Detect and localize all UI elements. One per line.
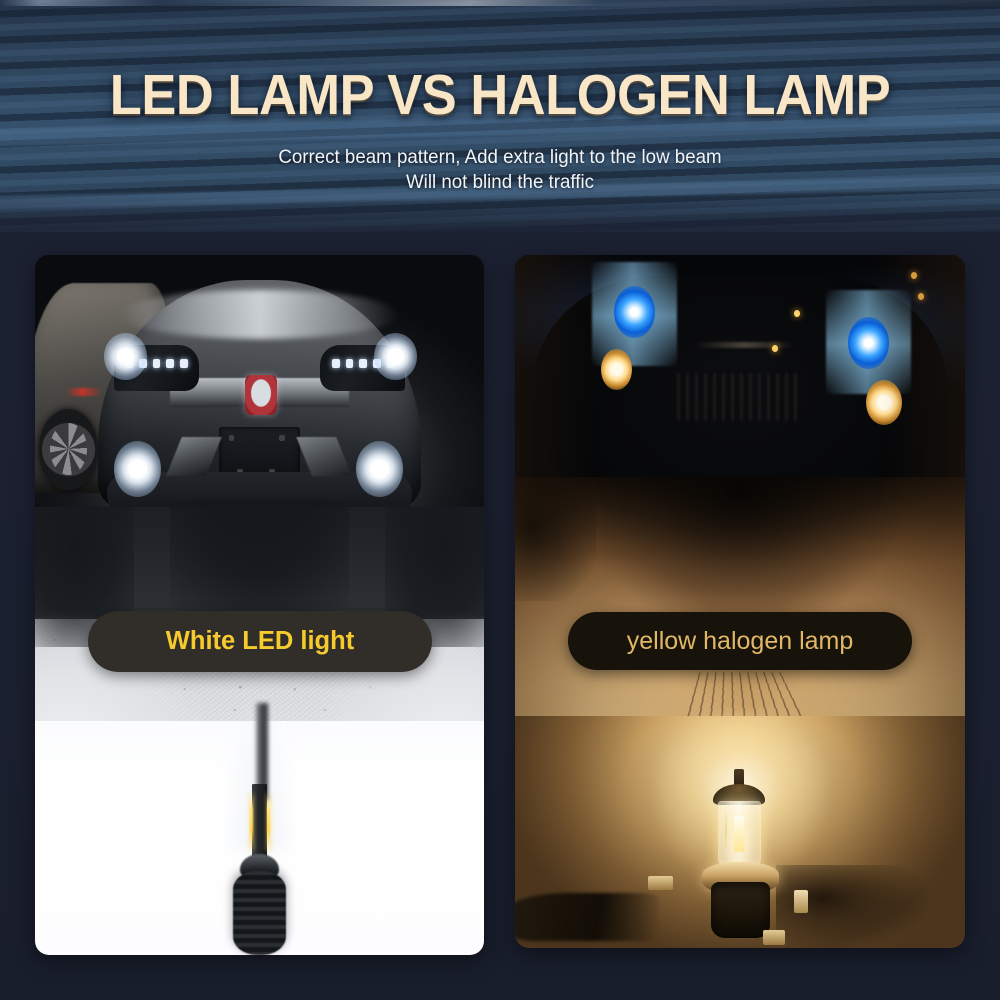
plate-bolt [229,435,235,441]
halogen-support-wire [725,809,727,855]
led-bulb-chip-body [252,784,267,861]
led-segment [153,359,161,367]
halogen-bulb-base [711,882,770,937]
led-segment [346,359,354,367]
halogen-base-tab [763,930,786,945]
led-chip-glow-right [267,794,269,851]
page-subtitle: Correct beam pattern, Add extra light to… [20,145,980,195]
led-segment [359,359,367,367]
honda-emblem-icon [245,375,276,414]
led-bulb-threaded-base [233,871,285,955]
left-fog-light-beam-source [114,441,161,497]
bulb-connector-wire [515,893,659,942]
left-headlight-beam-source [104,333,147,379]
led-photo [35,255,484,955]
led-comparison-panel[interactable] [35,255,484,955]
product-comparison-banner: LED LAMP VS HALOGEN LAMP Correct beam pa… [0,0,1000,1000]
halogen-comparison-panel[interactable] [515,255,965,948]
led-segment [166,359,174,367]
background-red-reflection [66,388,102,396]
white-led-light-label: White LED light [88,611,432,672]
halogen-base-tab [648,876,673,890]
yellow-halogen-lamp-label: yellow halogen lamp [568,612,912,670]
halogen-filament [734,816,744,852]
top-edge-highlight [0,0,1000,6]
halogen-photo [515,255,965,948]
right-headlight-beam-source [374,333,417,379]
led-segment [332,359,340,367]
background-car-wheel [39,409,97,490]
page-title: LED LAMP VS HALOGEN LAMP [40,62,960,128]
led-segment [180,359,188,367]
subtitle-line-1: Correct beam pattern, Add extra light to… [20,145,980,170]
hood-highlight [120,290,398,339]
right-fog-light-beam-source [356,441,403,497]
led-chip-glow-left [250,794,252,851]
plate-bolt [279,435,285,441]
subtitle-line-2: Will not blind the traffic [20,170,980,195]
dark-center-cutoff [170,500,350,612]
halogen-base-tab [794,890,808,914]
